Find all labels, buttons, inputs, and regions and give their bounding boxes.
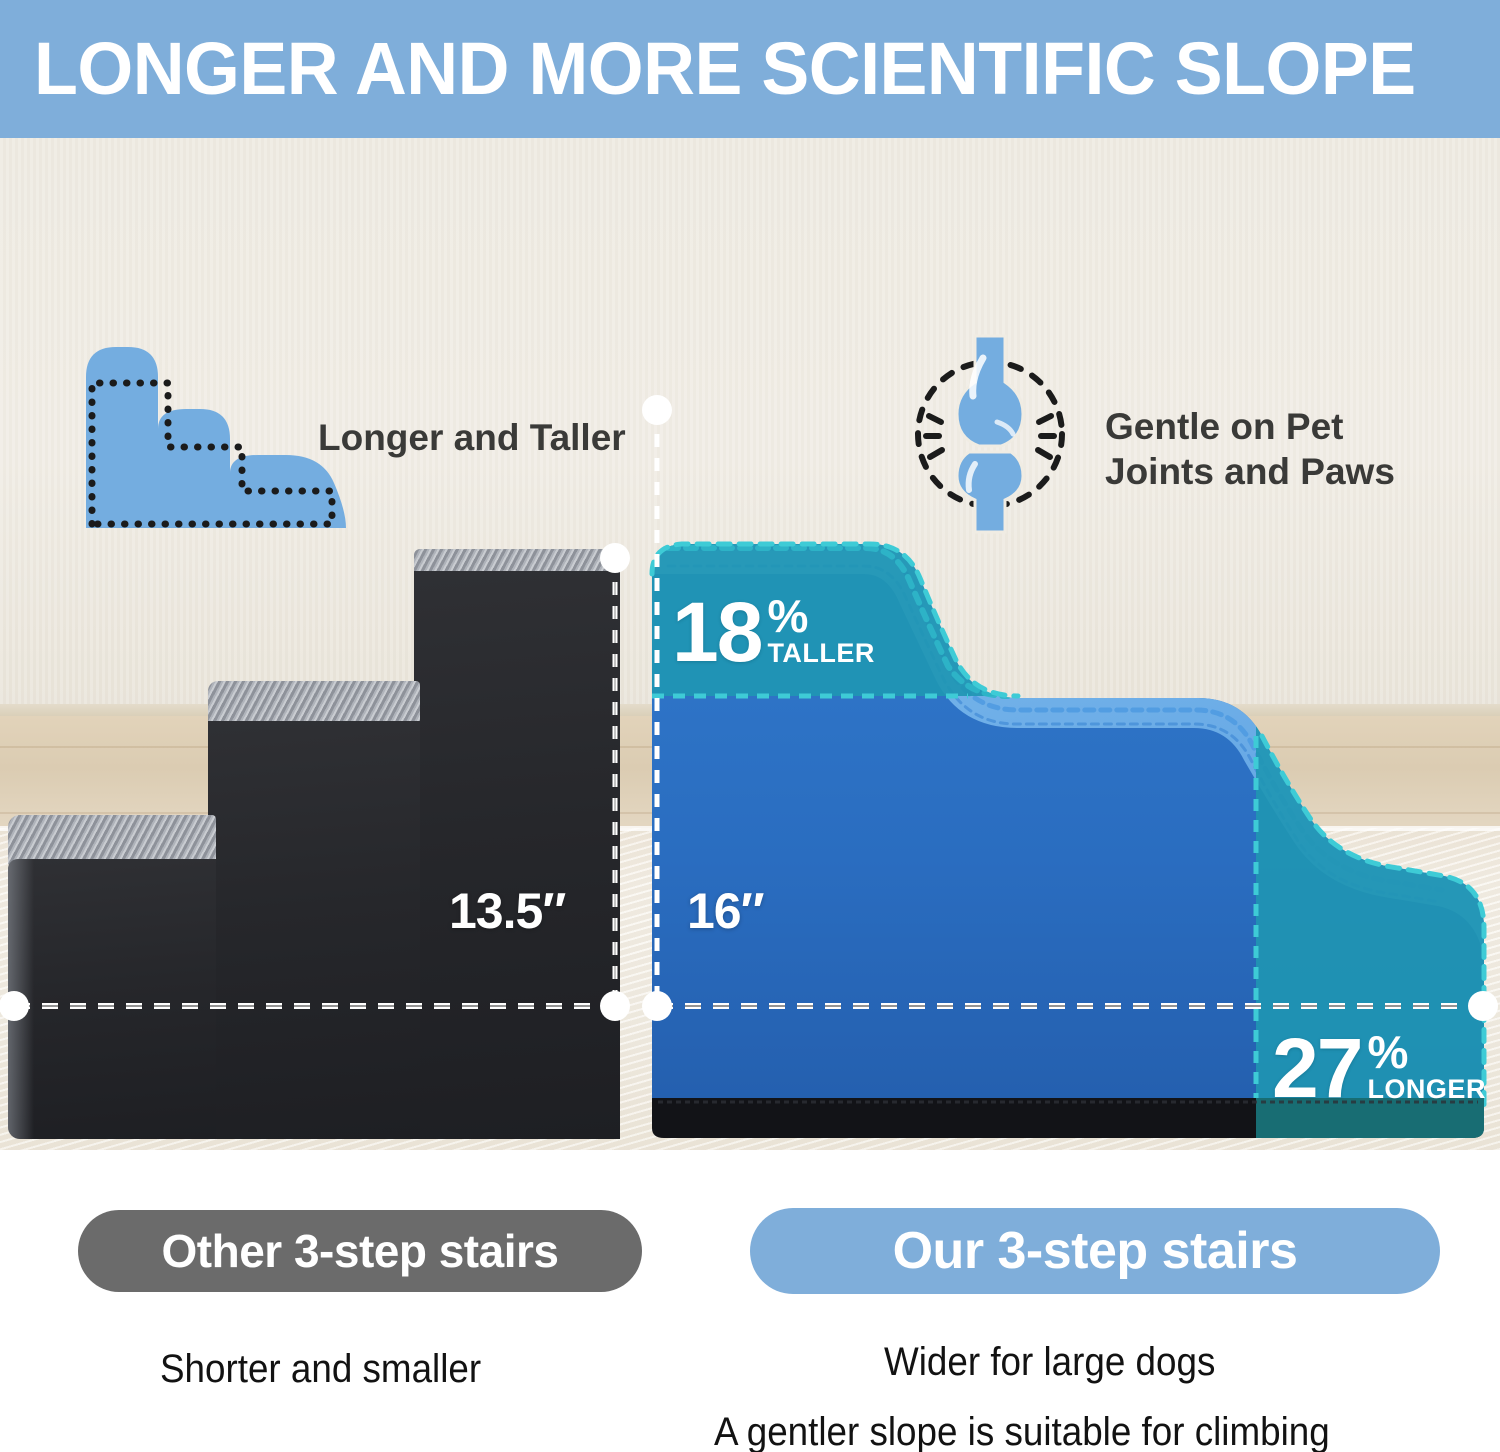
longer-badge-value: 27	[1272, 1026, 1361, 1110]
taller-badge: 18 % TALLER	[672, 590, 875, 674]
caption-right-2: A gentler slope is suitable for climbing	[714, 1408, 1330, 1452]
taller-badge-percent: %	[767, 594, 808, 638]
stair-riser-top	[414, 571, 620, 1139]
our-height-label: 16″	[687, 883, 764, 939]
competitor-height-label: 13.5″	[449, 883, 565, 939]
caption-left-1: Shorter and smaller	[160, 1345, 481, 1393]
pill-other-stairs: Other 3-step stairs	[78, 1210, 642, 1292]
taller-badge-word: TALLER	[767, 639, 874, 667]
longer-badge-word: LONGER	[1367, 1075, 1486, 1103]
infographic-page: LONGER AND MORE SCIENTIFIC SLOPE	[0, 0, 1500, 1452]
taller-badge-stack: % TALLER	[767, 594, 874, 667]
header-banner: LONGER AND MORE SCIENTIFIC SLOPE	[0, 0, 1500, 138]
stair-riser-middle	[208, 721, 420, 1139]
longer-badge: 27 % LONGER	[1272, 1026, 1486, 1110]
taller-badge-value: 18	[672, 590, 761, 674]
longer-badge-stack: % LONGER	[1367, 1030, 1486, 1103]
comparison-section: Other 3-step stairs Our 3-step stairs Sh…	[0, 1150, 1500, 1452]
stair-tread-bottom	[8, 815, 216, 865]
feature-label-longer-taller: Longer and Taller	[318, 416, 626, 460]
stair-side-shadow	[8, 859, 34, 1139]
pill-our-stairs: Our 3-step stairs	[750, 1208, 1440, 1294]
longer-badge-percent: %	[1367, 1030, 1408, 1074]
product-comparison-scene: Longer and Taller Gentle on Pet Joints a…	[0, 138, 1500, 1150]
stair-riser-bottom	[8, 859, 216, 1139]
competitor-stairs-product	[8, 549, 620, 1139]
page-title: LONGER AND MORE SCIENTIFIC SLOPE	[34, 26, 1431, 112]
caption-right-1: Wider for large dogs	[884, 1338, 1215, 1386]
